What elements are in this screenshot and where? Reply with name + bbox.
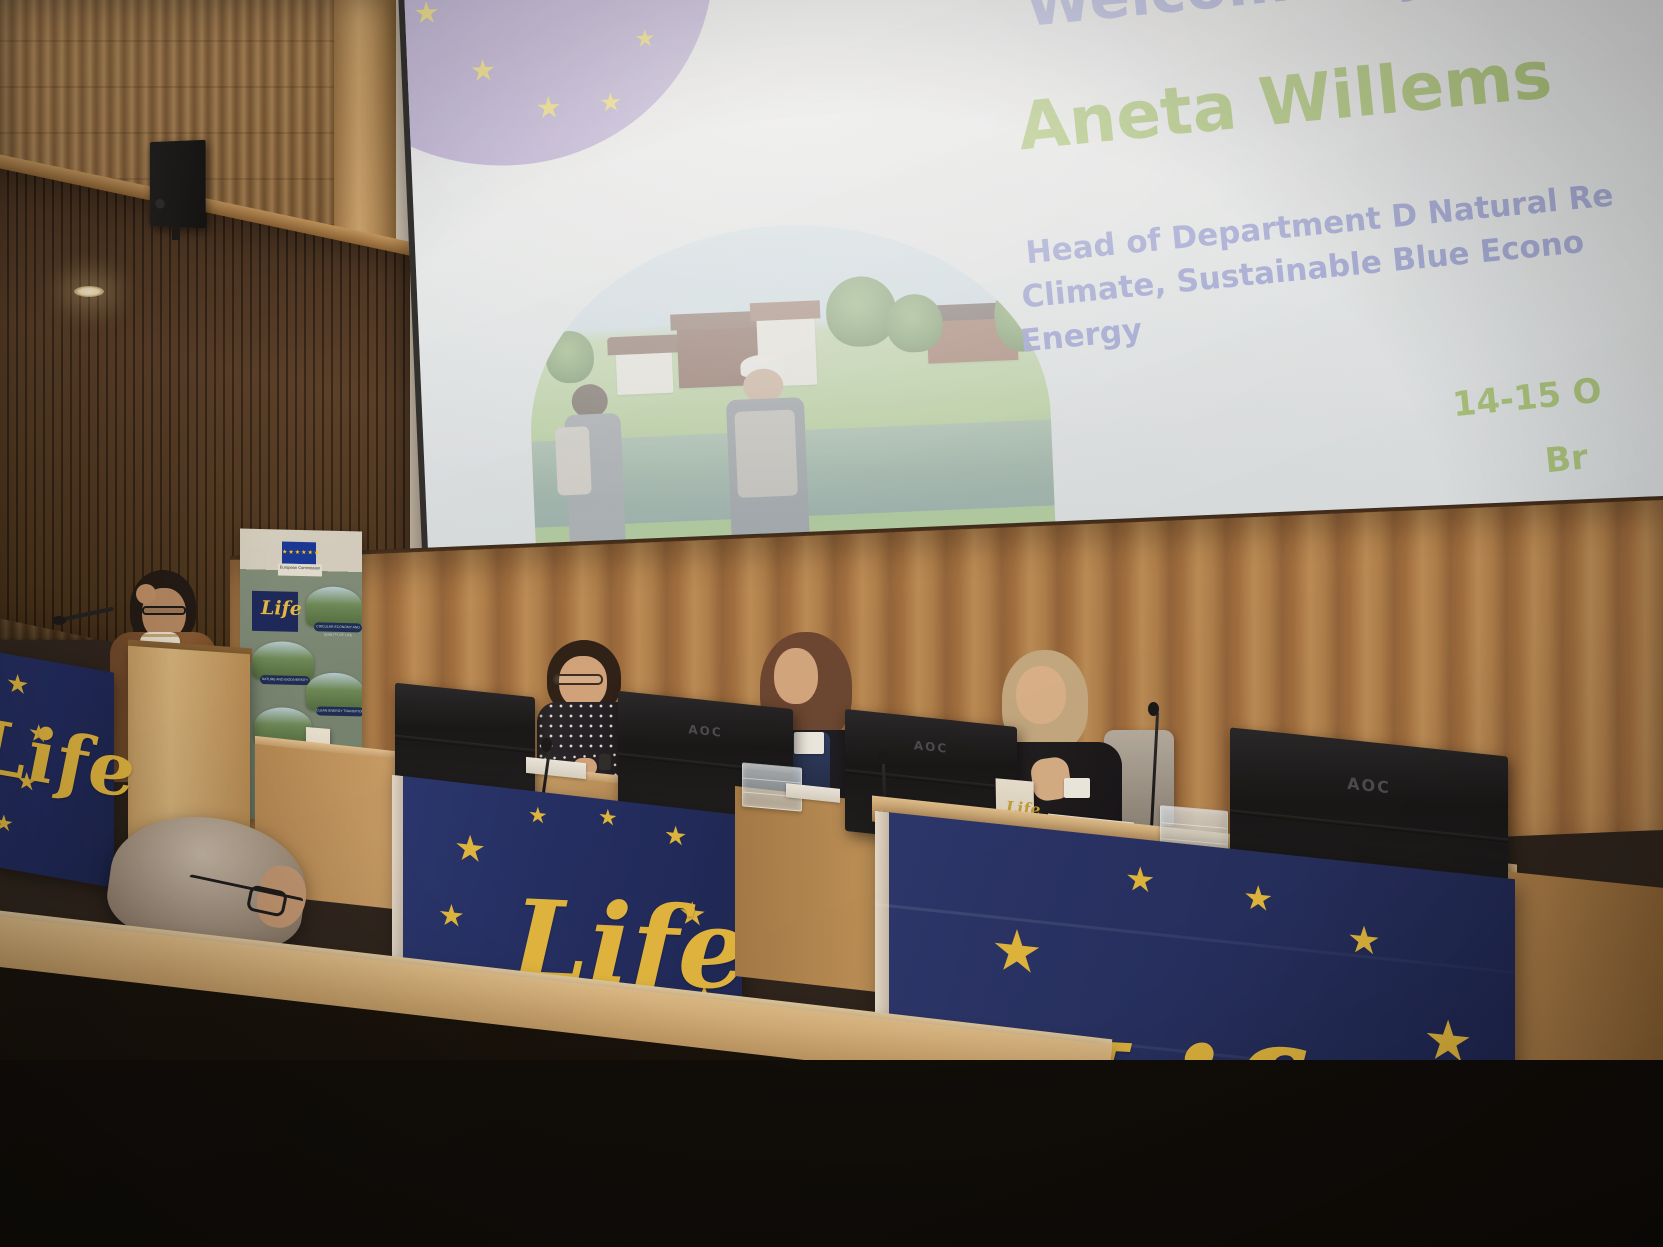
microphone-icon [878, 750, 889, 764]
conference-photo-scene: ★ ★ ★ ★ ★ ★ ★ EU [0, 0, 1663, 1247]
microphone-icon [52, 616, 66, 625]
eu-flag-left: ★ ★ ★ ★ Life [0, 651, 114, 888]
speaker-hand [136, 584, 156, 604]
glass-rim [743, 777, 801, 783]
monitor-vent [845, 769, 1017, 791]
eu-star-icon: ★ [664, 822, 687, 851]
eu-star-icon: ★ [6, 670, 29, 700]
banner-theme-tag: CLEAN ENERGY TRANSITION [316, 706, 362, 716]
slide-speaker-name: Aneta Willems [1015, 36, 1555, 165]
eu-emblem-caption: European Commission [278, 563, 322, 576]
speaker-bracket [172, 222, 180, 240]
monitor-brand-label: AOC [1347, 774, 1391, 798]
banner-theme-tag: CIRCULAR ECONOMY AND QUALITY OF LIFE [314, 622, 362, 632]
glasses-icon [553, 674, 603, 685]
slide-role-line-3: Energy [1019, 312, 1144, 360]
monitor-brand-label: AOC [688, 722, 722, 740]
eu-emblem-icon: ★★★★★★ [282, 542, 316, 565]
banner-theme-tag: NATURE AND BIODIVERSITY [260, 675, 310, 685]
monitor-brand-label: AOC [914, 738, 948, 756]
glasses-icon [142, 606, 186, 615]
wall-speaker-icon [150, 140, 206, 228]
eu-star-icon: ★ [454, 830, 486, 870]
microphone-icon [1148, 702, 1159, 716]
life-logo-text: Life [261, 597, 302, 620]
monitor-vent [1230, 809, 1508, 842]
name-badge [1064, 778, 1090, 798]
eu-star-icon: ★ [1125, 862, 1155, 899]
eu-star-icon: ★ [1347, 919, 1381, 961]
panelist-3-face [1016, 666, 1066, 724]
microphone-icon [541, 738, 552, 752]
banner-theme-pill [252, 641, 314, 681]
ceiling-light-icon [74, 286, 104, 297]
eu-star-icon: ★ [1243, 880, 1273, 917]
life-logo-banner: Life [252, 591, 298, 632]
eu-star-icon: ★ [598, 807, 618, 831]
wristwatch-icon [599, 754, 611, 770]
eu-star-icon: ★ [528, 804, 548, 828]
panelist-2-face [774, 648, 818, 704]
name-badge [794, 732, 824, 754]
banner-theme-pill [306, 586, 362, 627]
monitor-vent [395, 735, 535, 754]
eu-star-icon: ★ [991, 919, 1043, 983]
glass-rim [1161, 822, 1227, 829]
slide-heading: Welcome by [1022, 0, 1435, 41]
foreground-floor [0, 1060, 1663, 1247]
slide-date: 14-15 O [1451, 371, 1604, 426]
eu-star-icon: ★ [0, 812, 14, 837]
eu-emblem-stars: ★★★★★★ [282, 542, 316, 565]
eu-star-icon: ★ [438, 900, 465, 933]
banner-theme-pill [306, 672, 362, 711]
slide-place: Br [1543, 437, 1589, 481]
flag-fold [875, 903, 1515, 974]
